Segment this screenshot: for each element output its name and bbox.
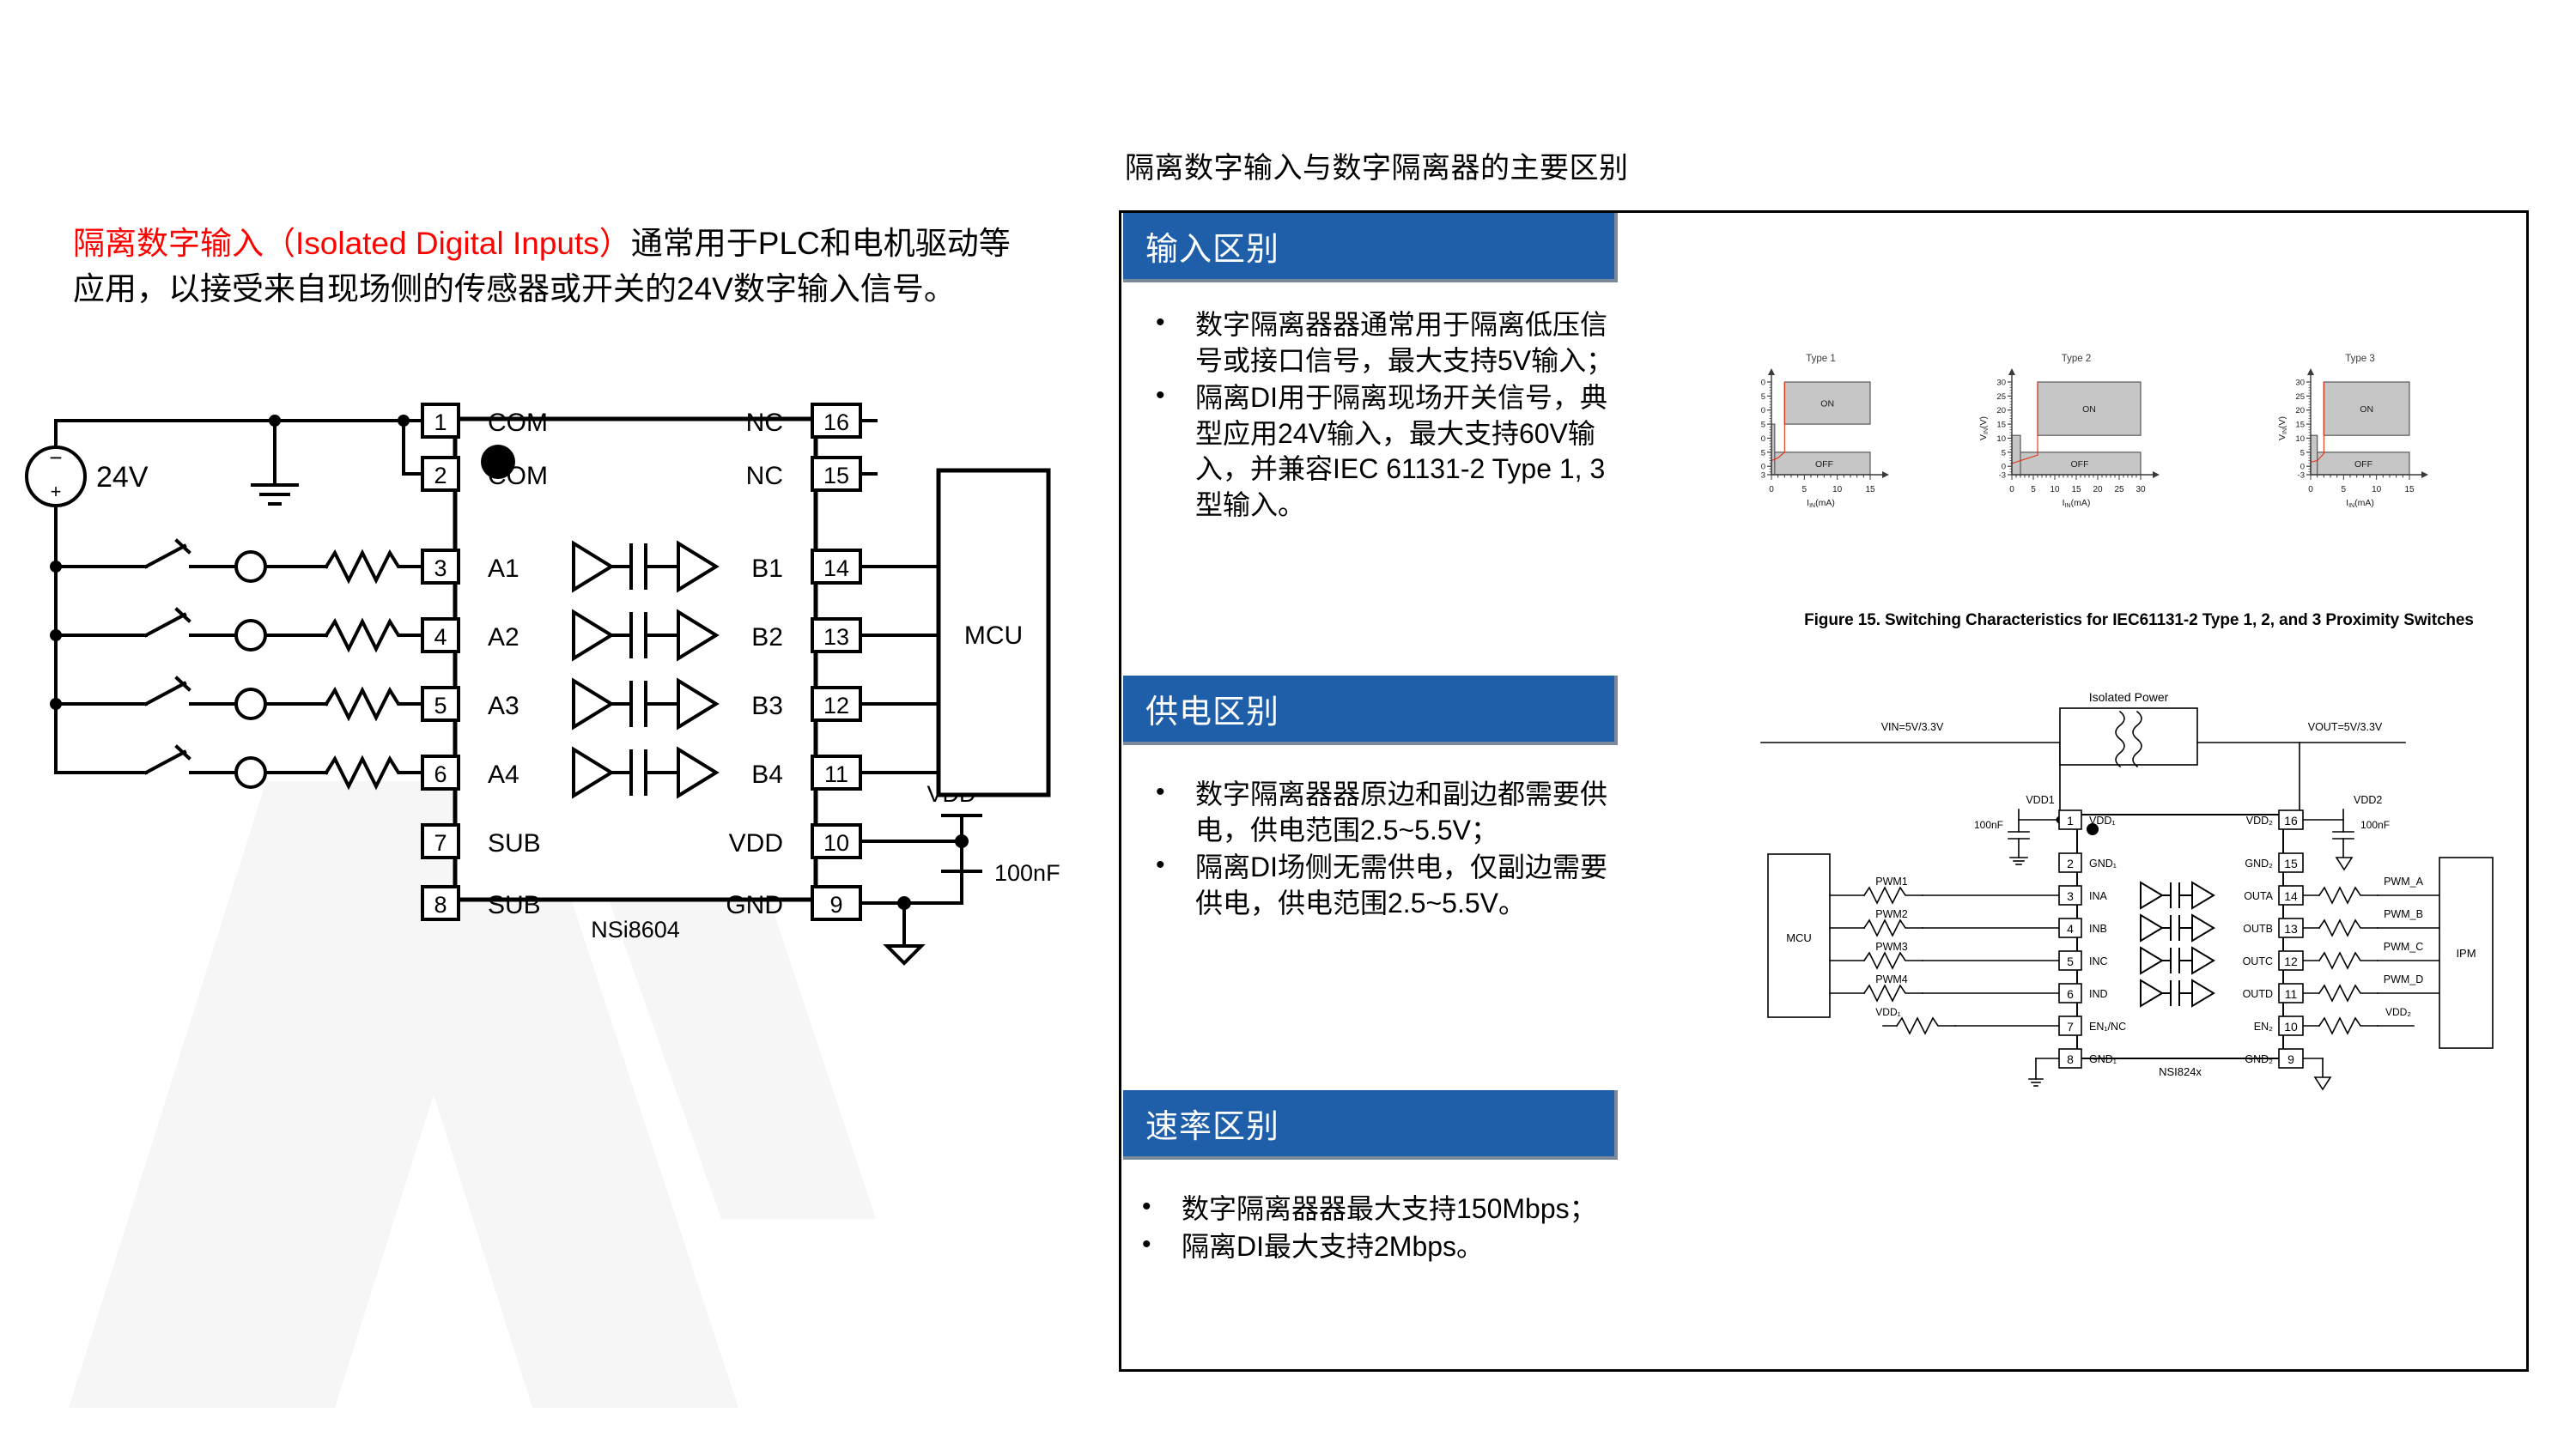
y-tick-label: 10 — [1996, 434, 2006, 444]
x-tick-label: 30 — [2136, 485, 2146, 494]
x-tick-label: 0 — [2308, 485, 2313, 494]
y-tick-label: 10 — [1761, 434, 1765, 444]
pin-name: INC — [2089, 955, 2108, 967]
figure-15-charts: Type 1ONOFF051015-3051015202530IIN(mA)VI… — [1761, 346, 2508, 518]
y-tick-label: 20 — [2295, 406, 2305, 415]
pin-number: 12 — [823, 693, 849, 718]
pin-number: 3 — [2067, 889, 2074, 903]
pin-name: OUTB — [2243, 923, 2273, 935]
y-axis-label: VIN(V) — [1978, 416, 1990, 440]
pin-number: 1 — [434, 409, 447, 435]
pin-number: 10 — [2284, 1020, 2298, 1034]
mcu-label: MCU — [964, 621, 1023, 650]
pin-number: 2 — [2067, 857, 2074, 870]
page-title: 隔离数字输入与数字隔离器的主要区别 — [1125, 144, 1629, 186]
chart-type-2: Type 2ONOFF051015202530-3051015202530IIN… — [1978, 354, 2160, 509]
chart-type-3: Type 3ONOFF051015-3051015202530IIN(mA)VI… — [2277, 354, 2428, 509]
pin-number: 1 — [2067, 814, 2074, 828]
pin-number: 11 — [824, 761, 848, 787]
y-tick-label: 0 — [2002, 463, 2006, 472]
bullet-item: 隔离DI最大支持2Mbps。 — [1130, 1229, 1680, 1265]
y-tick-label: 20 — [1761, 406, 1765, 415]
pin-name: IND — [2089, 988, 2108, 1000]
pin-number: 5 — [2067, 955, 2074, 968]
pin-number: 9 — [2287, 1052, 2294, 1066]
pin-name: EN₁/NC — [2089, 1021, 2126, 1033]
pin-name: OUTD — [2243, 988, 2273, 1000]
x-tick-label: 0 — [1769, 485, 1774, 494]
pin-number: 4 — [434, 624, 447, 650]
ground-triangle-icon — [887, 946, 921, 963]
pin-name: A2 — [488, 623, 519, 652]
chart-title: Type 1 — [1806, 354, 1836, 364]
pin-number: 8 — [434, 892, 447, 918]
section-header-bar: 速率区别 — [1123, 1090, 1618, 1160]
input-signal-label: PWM4 — [1875, 973, 1908, 985]
section-heading: 输入区别 — [1123, 222, 1279, 270]
mcu-label: MCU — [1786, 931, 1812, 944]
section-header-bar: 供电区别 — [1123, 676, 1618, 745]
pin-name: NC — [746, 409, 783, 437]
pin-number: 13 — [2284, 922, 2298, 936]
chip-name-label: NSI824x — [2159, 1065, 2202, 1078]
pin-name: B4 — [751, 761, 783, 789]
y-tick-label: 30 — [1996, 379, 2006, 388]
pin-number: 7 — [2067, 1020, 2074, 1034]
y-tick-label: 15 — [1996, 421, 2006, 430]
bullet-item: 数字隔离器器通常用于隔离低压信号或接口信号，最大支持5V输入； — [1144, 307, 1625, 379]
description-highlight: 隔离数字输入（Isolated Digital Inputs） — [73, 226, 631, 261]
pin-name: VDD₁ — [2089, 815, 2116, 827]
chart-type-1: Type 1ONOFF051015-3051015202530IIN(mA)VI… — [1761, 354, 1889, 509]
pin-name: B2 — [751, 623, 783, 652]
pin-name: SUB — [488, 829, 541, 858]
section-heading: 供电区别 — [1123, 685, 1279, 732]
isolated-power-label: Isolated Power — [2089, 690, 2169, 704]
pin-number: 6 — [2067, 987, 2074, 1001]
y-tick-label: 20 — [1996, 406, 2006, 415]
pin-name: OUTA — [2244, 890, 2273, 902]
y-tick-label: 5 — [2300, 448, 2305, 458]
pin-number: 16 — [823, 409, 849, 435]
input-signal-label: PWM2 — [1875, 908, 1908, 920]
output-signal-label: PWM_D — [2384, 973, 2424, 985]
pin-name: A3 — [488, 692, 519, 720]
y-tick-label: 5 — [1761, 448, 1765, 458]
pin-name: COM — [488, 462, 548, 490]
pin-name: NC — [746, 462, 783, 490]
pin-name: GND₁ — [2089, 1053, 2117, 1065]
section-bullets: 数字隔离器器最大支持150Mbps； 隔离DI最大支持2Mbps。 — [1130, 1191, 1680, 1266]
pin-name: GND₁ — [2089, 858, 2117, 870]
left-description: 隔离数字输入（Isolated Digital Inputs）通常用于PLC和电… — [73, 221, 1035, 312]
region-label: ON — [2082, 404, 2096, 415]
slide-canvas: 隔离数字输入（Isolated Digital Inputs）通常用于PLC和电… — [0, 0, 2576, 1449]
x-tick-label: 0 — [2009, 485, 2014, 494]
bullet-item: 数字隔离器器原边和副边都需要供电，供电范围2.5~5.5V； — [1144, 777, 1625, 848]
vin-label: VIN=5V/3.3V — [1881, 721, 1944, 733]
section-header-bar: 输入区别 — [1123, 213, 1618, 282]
x-tick-label: 10 — [2372, 485, 2382, 494]
pin-number: 12 — [2284, 955, 2298, 968]
pin-name: VDD₂ — [2246, 815, 2273, 827]
x-axis-label: IIN(mA) — [2063, 498, 2091, 509]
figure-caption: Figure 15. Switching Characteristics for… — [1757, 611, 2521, 630]
y-tick-label: 25 — [1761, 392, 1765, 402]
x-tick-label: 20 — [2093, 485, 2103, 494]
pin-number: 13 — [823, 624, 849, 650]
region-label: OFF — [1815, 459, 1833, 470]
vdd2-label: VDD2 — [2354, 794, 2382, 806]
y-tick-label: 25 — [2295, 392, 2305, 402]
cap2-label: 100nF — [2360, 819, 2390, 831]
svg-text:−: − — [49, 445, 62, 470]
pin-number: 16 — [2284, 814, 2298, 828]
output-signal-label: PWM_B — [2384, 908, 2423, 920]
pin-number: 14 — [2284, 889, 2298, 903]
bullet-item: 数字隔离器器最大支持150Mbps； — [1130, 1191, 1680, 1228]
pin-name: INB — [2089, 923, 2107, 935]
chart-title: Type 2 — [2062, 354, 2092, 364]
y-tick-label: 30 — [1761, 379, 1765, 388]
pin-name: GND₂ — [2245, 858, 2273, 870]
y-tick-label: -3 — [1999, 471, 2006, 481]
pin-name: B3 — [751, 692, 783, 720]
output-signal-label: PWM_C — [2384, 941, 2424, 953]
y-tick-label: -3 — [1761, 471, 1765, 481]
region-label: OFF — [2071, 459, 2089, 470]
comparison-panel: 输入区别 数字隔离器器通常用于隔离低压信号或接口信号，最大支持5V输入； 隔离D… — [1119, 210, 2529, 1372]
x-tick-label: 5 — [1802, 485, 1807, 494]
en2-source-label: VDD₂ — [2385, 1006, 2411, 1018]
section-bullets: 数字隔离器器原边和副边都需要供电，供电范围2.5~5.5V； 隔离DI场侧无需供… — [1144, 777, 1625, 923]
svg-text:+: + — [51, 481, 62, 502]
pin-number: 5 — [434, 693, 447, 718]
output-signal-label: PWM_A — [2384, 876, 2424, 888]
pin-number: 6 — [434, 761, 447, 787]
pin-name: INA — [2089, 890, 2108, 902]
y-axis-label: VIN(V) — [2277, 416, 2288, 440]
y-tick-label: 0 — [2300, 463, 2305, 472]
pin-name: SUB — [488, 891, 541, 919]
x-tick-label: 15 — [1865, 485, 1875, 494]
x-tick-label: 25 — [2114, 485, 2124, 494]
y-tick-label: -3 — [2298, 471, 2305, 481]
region-label: OFF — [2354, 459, 2372, 470]
pin-number: 10 — [823, 830, 849, 856]
x-axis-label: IIN(mA) — [2346, 498, 2374, 509]
ground-icon — [251, 485, 299, 504]
pin-name: COM — [488, 409, 548, 437]
y-tick-label: 15 — [2295, 421, 2305, 430]
nsi8604-ic-body — [455, 419, 816, 900]
input-signal-label: PWM1 — [1875, 876, 1908, 888]
pin-number: 8 — [2067, 1052, 2074, 1066]
x-tick-label: 10 — [2050, 485, 2060, 494]
ipm-label: IPM — [2456, 947, 2476, 960]
x-tick-label: 10 — [1832, 485, 1843, 494]
chart-title: Type 3 — [2345, 354, 2375, 364]
digital-isolator-schematic: 1VDD₁2GND₁3INA4INB5INC6IND7EN₁/NC8GND₁ 1… — [1753, 689, 2517, 1093]
pin-name: EN₂ — [2254, 1021, 2273, 1033]
pin-number: 15 — [823, 463, 849, 488]
input-signal-label: PWM3 — [1875, 941, 1908, 953]
x-tick-label: 5 — [2031, 485, 2036, 494]
pin-number: 3 — [434, 555, 447, 581]
pin-name: VDD — [729, 829, 783, 858]
pin-number: 11 — [2285, 987, 2298, 1001]
pin-name: B1 — [751, 555, 783, 583]
pin-number: 2 — [434, 463, 447, 488]
cap1-label: 100nF — [1974, 819, 2003, 831]
section-bullets: 数字隔离器器通常用于隔离低压信号或接口信号，最大支持5V输入； 隔离DI用于隔离… — [1144, 307, 1625, 525]
y-tick-label: 10 — [2295, 434, 2305, 444]
pin-number: 7 — [434, 830, 447, 856]
x-axis-label: IIN(mA) — [1807, 498, 1835, 509]
x-tick-label: 15 — [2404, 485, 2415, 494]
y-tick-label: 5 — [2002, 448, 2006, 458]
pin-number: 15 — [2284, 857, 2298, 870]
pin-name: GND — [726, 891, 783, 919]
y-tick-label: 25 — [1996, 392, 2006, 402]
y-tick-label: 15 — [1761, 421, 1765, 430]
pin-name: GND₂ — [2245, 1053, 2273, 1065]
pin-number: 4 — [2067, 922, 2074, 936]
source-voltage-label: 24V — [96, 461, 149, 494]
section-heading: 速率区别 — [1123, 1100, 1279, 1147]
pin-name: A1 — [488, 555, 519, 583]
pin-name: OUTC — [2243, 955, 2273, 967]
vdd1-label: VDD1 — [2026, 794, 2054, 806]
pin-number: 9 — [829, 892, 842, 918]
chip-name-label: NSi8604 — [591, 917, 680, 943]
y-tick-label: 0 — [1761, 463, 1765, 472]
region-label: ON — [1820, 399, 1834, 409]
bullet-item: 隔离DI用于隔离现场开关信号，典型应用24V输入，最大支持60V输入，并兼容IE… — [1144, 380, 1625, 523]
capacitor-value-label: 100nF — [994, 860, 1060, 886]
pin-name: A4 — [488, 761, 519, 789]
bullet-item: 隔离DI场侧无需供电，仅副边需要供电，供电范围2.5~5.5V。 — [1144, 850, 1625, 921]
en1-source-label: VDD₁ — [1875, 1006, 1900, 1018]
x-tick-label: 5 — [2342, 485, 2347, 494]
vout-label: VOUT=5V/3.3V — [2308, 721, 2383, 733]
x-tick-label: 15 — [2071, 485, 2081, 494]
y-tick-label: 30 — [2295, 379, 2305, 388]
region-label: ON — [2360, 404, 2373, 415]
isolated-di-schematic: − + 24V 1COM2COM3A14A25A36A47SUB8SUB 16N… — [0, 369, 1133, 987]
pin-number: 14 — [823, 555, 849, 581]
